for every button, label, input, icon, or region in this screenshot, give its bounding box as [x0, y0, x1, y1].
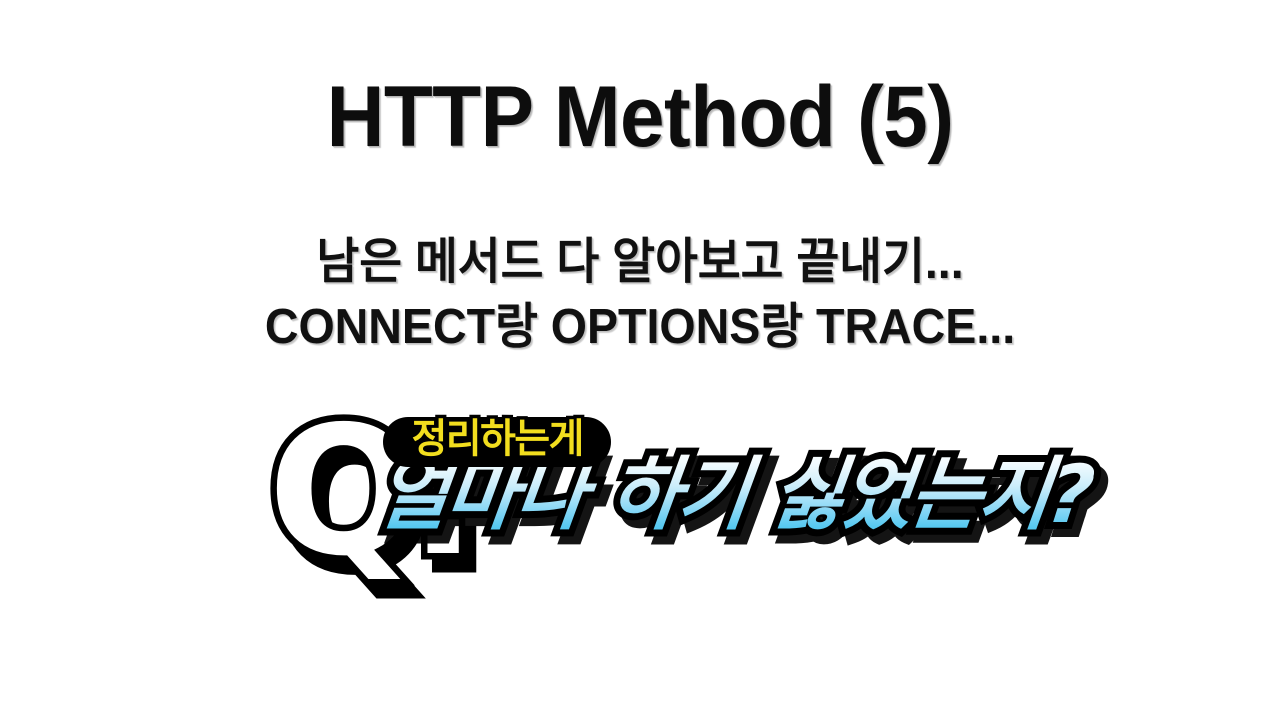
sticker-caption-group: Q. 정리하는게 얼마나 하기 싫었는지? 얼마나 하기 싫었는지?	[0, 395, 1280, 595]
page-title: HTTP Method (5)	[327, 74, 954, 160]
caption-text: 얼마나 하기 싫었는지? 얼마나 하기 싫었는지?	[372, 455, 1096, 535]
subtitle-line-2: CONNECT랑 OPTIONS랑 TRACE...	[32, 295, 1248, 360]
status-badge: 정리하는게	[383, 417, 611, 467]
badge-label: 정리하는게	[411, 419, 582, 459]
caption-wrapper: 얼마나 하기 싫었는지? 얼마나 하기 싫었는지?	[372, 455, 1101, 535]
subtitle-block: 남은 메서드 다 알아보고 끝내기... CONNECT랑 OPTIONS랑 T…	[0, 230, 1280, 359]
subtitle-line-1: 남은 메서드 다 알아보고 끝내기...	[32, 230, 1248, 295]
slide-canvas: HTTP Method (5) 남은 메서드 다 알아보고 끝내기... CON…	[0, 0, 1280, 720]
title-block: HTTP Method (5)	[0, 74, 1280, 160]
